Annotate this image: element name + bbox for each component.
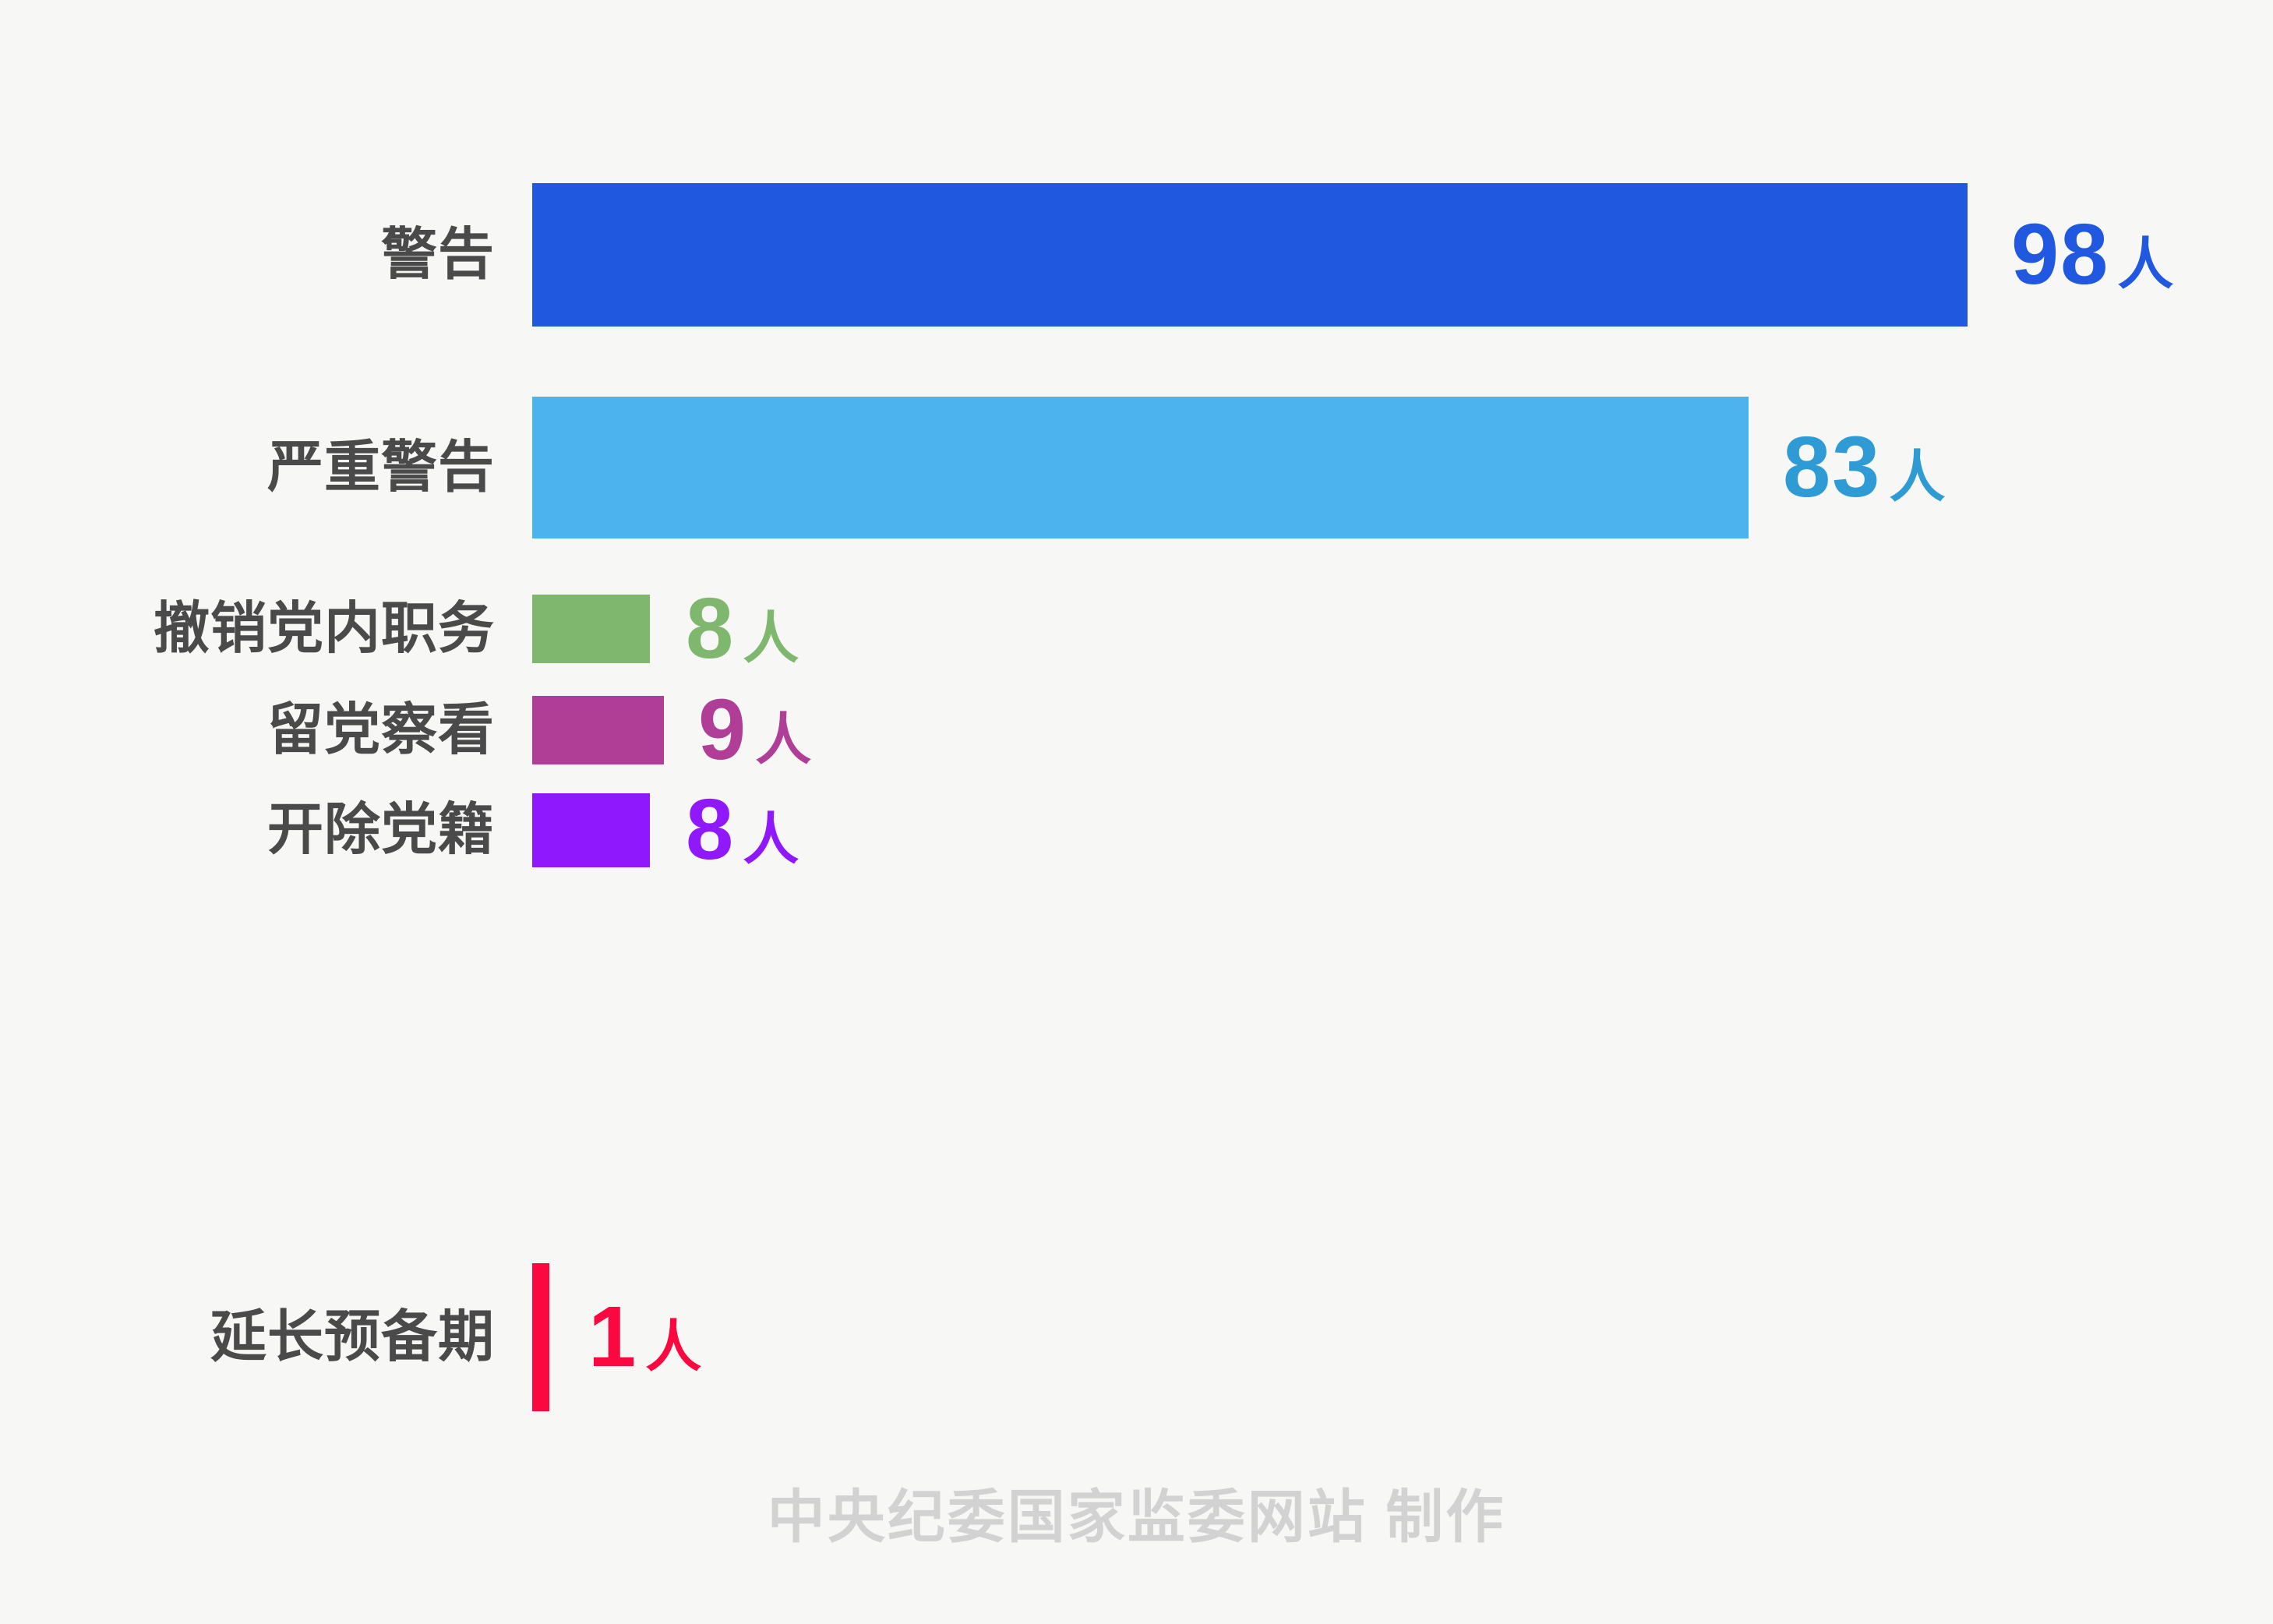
bar-value-unit: 人 bbox=[1889, 450, 1945, 506]
bar-value-number: 98 bbox=[2011, 212, 2109, 298]
bar-category-label: 延长预备期 bbox=[0, 1309, 495, 1365]
bar-fill[interactable] bbox=[532, 793, 650, 867]
bar-category-label: 开除党籍 bbox=[0, 802, 495, 858]
bar-track: 9 人 bbox=[495, 687, 2273, 773]
bar-value-number: 83 bbox=[1783, 425, 1881, 510]
source-credit: 中央纪委国家监委网站 制作 bbox=[0, 1488, 2273, 1546]
bar-value-unit: 人 bbox=[743, 812, 799, 868]
bar-value-number: 8 bbox=[686, 586, 735, 672]
chart-row: 开除党籍 8 人 bbox=[0, 779, 2273, 881]
bar-category-label: 留党察看 bbox=[0, 702, 495, 758]
bar-category-label: 警告 bbox=[0, 227, 495, 283]
bar-value-label: 98 人 bbox=[2011, 212, 2173, 298]
bar-fill[interactable] bbox=[532, 696, 664, 764]
bar-category-label: 撤销党内职务 bbox=[0, 601, 495, 657]
bar-value-number: 9 bbox=[698, 687, 747, 773]
chart-row: 延长预备期 1 人 bbox=[0, 1261, 2273, 1414]
bar-value-unit: 人 bbox=[2117, 237, 2173, 293]
chart-row: 留党察看 9 人 bbox=[0, 680, 2273, 781]
chart-row: 撤销党内职务 8 人 bbox=[0, 578, 2273, 680]
bar-value-label: 8 人 bbox=[686, 787, 799, 873]
bar-fill[interactable] bbox=[532, 1263, 549, 1411]
bar-fill[interactable] bbox=[532, 595, 650, 663]
horizontal-bar-chart: 警告 98 人 严重警告 83 人 撤销党内职务 bbox=[0, 0, 2273, 1465]
bar-value-label: 9 人 bbox=[698, 687, 811, 773]
bar-value-label: 83 人 bbox=[1783, 425, 1945, 510]
bar-fill[interactable] bbox=[532, 183, 1968, 327]
chart-row: 警告 98 人 bbox=[0, 156, 2273, 354]
bar-track: 8 人 bbox=[495, 586, 2273, 672]
bar-value-number: 1 bbox=[588, 1294, 637, 1380]
bar-value-number: 8 bbox=[686, 787, 735, 873]
bar-track: 83 人 bbox=[495, 397, 2273, 538]
bar-fill[interactable] bbox=[532, 397, 1749, 538]
bar-category-label: 严重警告 bbox=[0, 440, 495, 496]
infographic-page: 警告 98 人 严重警告 83 人 撤销党内职务 bbox=[0, 0, 2273, 1624]
bar-track: 8 人 bbox=[495, 787, 2273, 873]
bar-value-unit: 人 bbox=[755, 712, 811, 768]
bar-value-label: 1 人 bbox=[588, 1294, 701, 1380]
bar-value-label: 8 人 bbox=[686, 586, 799, 672]
bar-value-unit: 人 bbox=[645, 1319, 701, 1375]
bar-track: 98 人 bbox=[495, 183, 2273, 327]
chart-row: 严重警告 83 人 bbox=[0, 369, 2273, 566]
bar-track: 1 人 bbox=[495, 1263, 2273, 1411]
bar-value-unit: 人 bbox=[743, 611, 799, 667]
